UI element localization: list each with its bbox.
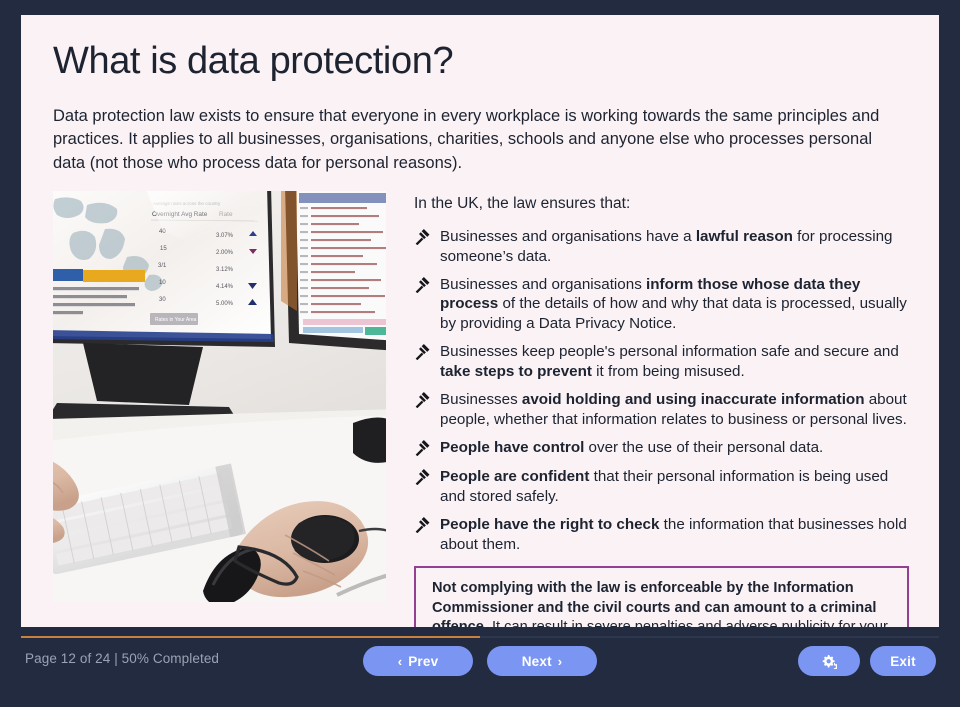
law-item-emphasis: People have the right to check (440, 516, 659, 533)
gavel-icon (414, 228, 431, 247)
law-list-item: People have the right to check the infor… (414, 515, 909, 554)
svg-text:4.14%: 4.14% (216, 284, 234, 290)
prev-button-label: Prev (408, 654, 438, 669)
svg-text:15: 15 (160, 246, 167, 252)
gavel-icon (414, 468, 431, 487)
law-item-pre: Businesses and organisations (440, 276, 646, 293)
next-button[interactable]: Next › (487, 646, 597, 676)
law-item-text: Businesses and organisations inform thos… (440, 275, 909, 333)
gavel-icon (414, 276, 431, 295)
workplace-photo: Average rates across the country Overnig… (53, 191, 386, 602)
footer-right-actions: Exit (798, 646, 936, 676)
gavel-icon (414, 391, 431, 410)
law-item-text: Businesses and organisations have a lawf… (440, 227, 909, 266)
list-lead: In the UK, the law ensures that: (414, 195, 909, 213)
chevron-left-icon: ‹ (398, 655, 403, 668)
svg-text:5.00%: 5.00% (216, 301, 234, 307)
progress-track (21, 636, 939, 638)
law-item-text: People have control over the use of thei… (440, 438, 909, 458)
prev-button[interactable]: ‹ Prev (363, 646, 473, 676)
law-item-text: Businesses keep people's personal inform… (440, 342, 909, 381)
cogs-icon (821, 654, 838, 669)
law-item-text: People are confident that their personal… (440, 467, 909, 506)
settings-button[interactable] (798, 646, 860, 676)
gavel-icon (414, 516, 431, 535)
law-column: In the UK, the law ensures that: Busines… (414, 191, 909, 671)
law-item-post: it from being misused. (592, 363, 745, 380)
progress-fill (21, 636, 480, 638)
law-item-post: over the use of their personal data. (584, 439, 823, 456)
law-item-text: Businesses avoid holding and using inacc… (440, 390, 909, 429)
law-item-emphasis: avoid holding and using inaccurate infor… (522, 391, 865, 408)
next-button-label: Next (522, 654, 552, 669)
intro-paragraph: Data protection law exists to ensure tha… (53, 105, 893, 175)
law-list-item: People have control over the use of thei… (414, 438, 909, 458)
law-item-text: People have the right to check the infor… (440, 515, 909, 554)
law-list-item: Businesses avoid holding and using inacc… (414, 390, 909, 429)
law-item-pre: Businesses (440, 391, 522, 408)
svg-text:3.12%: 3.12% (216, 267, 234, 273)
page-title: What is data protection? (53, 41, 909, 83)
chevron-right-icon: › (558, 655, 563, 668)
law-item-emphasis: lawful reason (696, 228, 793, 245)
law-list-item: Businesses and organisations inform thos… (414, 275, 909, 333)
gavel-icon (414, 439, 431, 458)
svg-text:Rates in Your Area: Rates in Your Area (155, 317, 197, 323)
slide-body: Average rates across the country Overnig… (53, 191, 909, 671)
law-item-pre: Businesses keep people's personal inform… (440, 343, 899, 360)
law-list-item: People are confident that their personal… (414, 467, 909, 506)
gavel-icon (414, 343, 431, 362)
law-item-emphasis: People are confident (440, 468, 589, 485)
svg-text:30: 30 (159, 297, 166, 303)
svg-text:3/1: 3/1 (158, 263, 167, 269)
law-item-emphasis: take steps to prevent (440, 363, 592, 380)
exit-button-label: Exit (890, 654, 916, 669)
law-list-item: Businesses keep people's personal inform… (414, 342, 909, 381)
law-list-item: Businesses and organisations have a lawf… (414, 227, 909, 266)
law-item-post: of the details of how and why that data … (440, 295, 907, 331)
slide-card: What is data protection? Data protection… (21, 15, 939, 627)
exit-button[interactable]: Exit (870, 646, 936, 676)
player-footer: Page 12 of 24 | 50% Completed ‹ Prev Nex… (0, 627, 960, 707)
law-item-emphasis: People have control (440, 439, 584, 456)
law-item-pre: Businesses and organisations have a (440, 228, 696, 245)
svg-text:10: 10 (159, 280, 166, 286)
law-list: Businesses and organisations have a lawf… (414, 227, 909, 554)
